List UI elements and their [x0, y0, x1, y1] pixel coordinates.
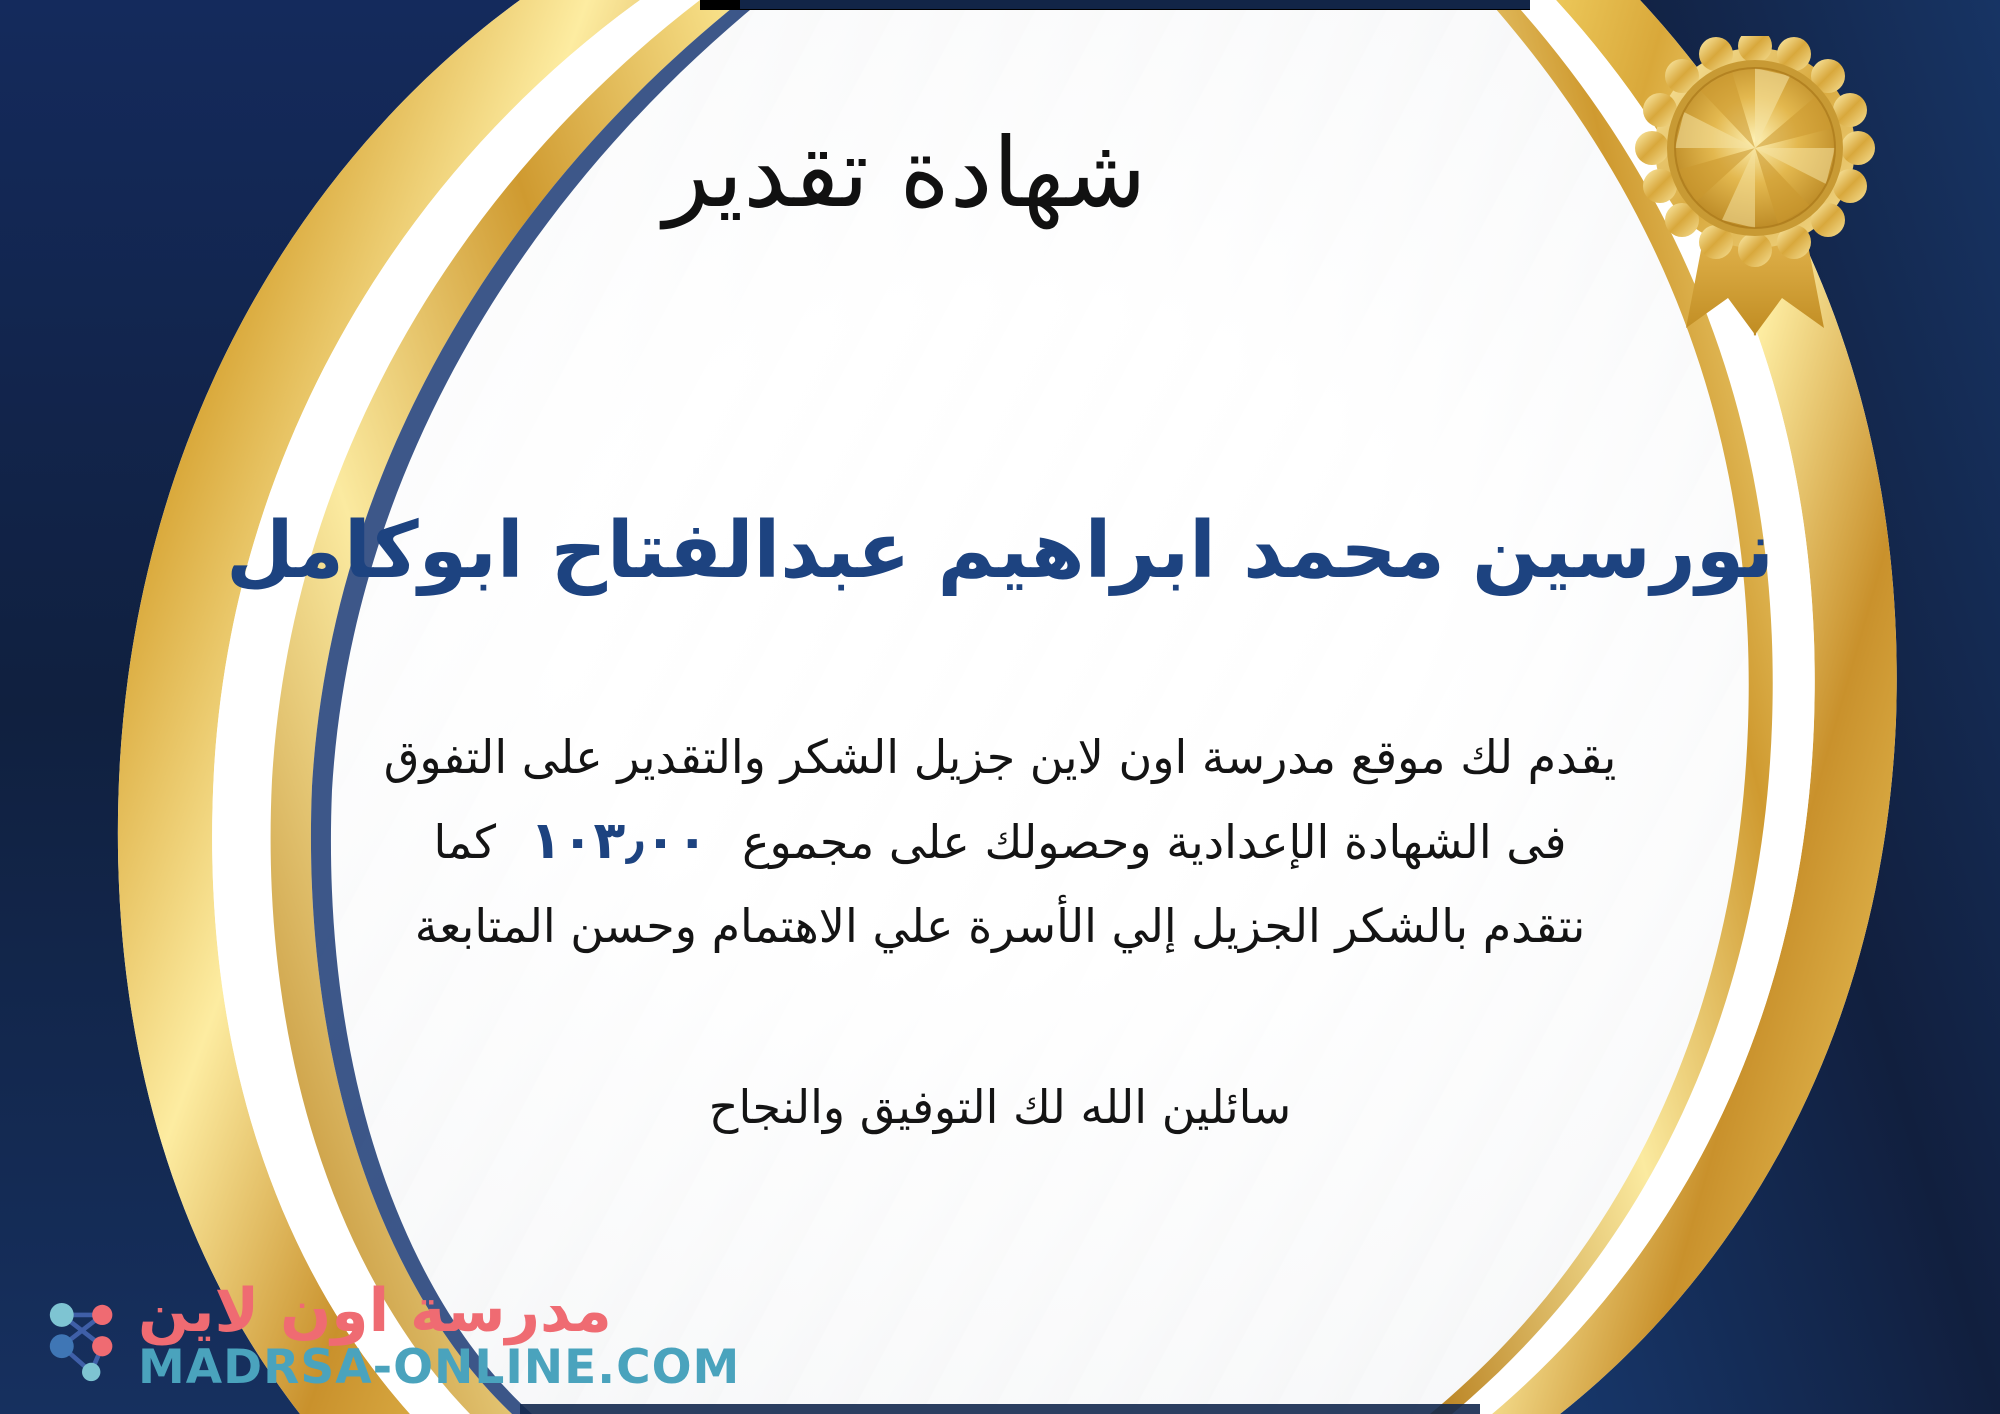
brand-name-arabic: مدرسة اون لاين	[138, 1281, 612, 1342]
certificate-canvas: شهادة تقدير نورسين محمد ابراهيم عبدالفتا…	[0, 0, 2000, 1414]
brand-website: MADRSA-ONLINE.COM	[138, 1343, 740, 1392]
closing-line: سائلين الله لك التوفيق والنجاح	[0, 1080, 2000, 1134]
certificate-content: شهادة تقدير نورسين محمد ابراهيم عبدالفتا…	[0, 0, 2000, 1414]
network-nodes-icon	[36, 1289, 128, 1385]
body-line-2-prefix: فى الشهادة الإعدادية وحصولك على مجموع	[742, 815, 1566, 869]
recipient-name: نورسين محمد ابراهيم عبدالفتاح ابوكامل	[0, 505, 2000, 599]
body-line-2: فى الشهادة الإعدادية وحصولك على مجموع١٠٣…	[150, 797, 1850, 886]
brand-logo: مدرسة اون لاين MADRSA-ONLINE.COM	[36, 1281, 740, 1392]
grade-value: ١٠٣٫٠٠	[496, 811, 742, 871]
body-line-2-suffix: كما	[433, 815, 496, 869]
page-title: شهادة تقدير	[0, 118, 2000, 228]
body-line-1: يقدم لك موقع مدرسة اون لاين جزيل الشكر و…	[150, 718, 1850, 797]
body-line-3: نتقدم بالشكر الجزيل إلي الأسرة علي الاهت…	[150, 887, 1850, 966]
brand-text: مدرسة اون لاين MADRSA-ONLINE.COM	[138, 1281, 740, 1392]
body-text: يقدم لك موقع مدرسة اون لاين جزيل الشكر و…	[150, 718, 1850, 966]
